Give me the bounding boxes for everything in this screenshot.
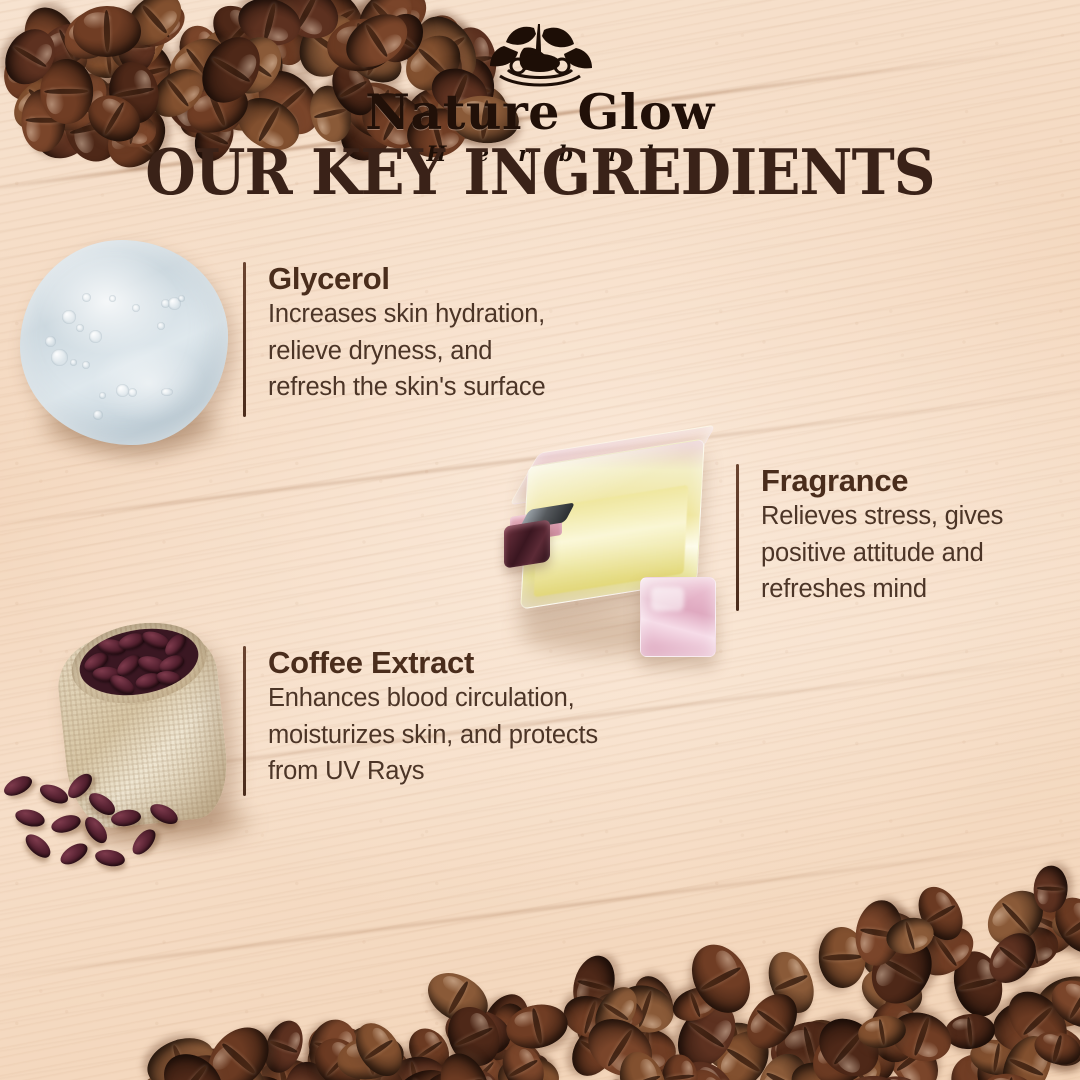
brand-name: Nature Glow <box>0 88 1080 137</box>
ingredient-block-fragrance: Fragrance Relieves stress, gives positiv… <box>736 464 1003 607</box>
glycerol-gel-blob-image <box>20 240 228 445</box>
ingredient-title: Coffee Extract <box>268 646 598 679</box>
ingredient-block-coffee-extract: Coffee Extract Enhances blood circulatio… <box>243 646 598 789</box>
ingredient-divider-rule <box>736 464 739 611</box>
ingredient-description: Increases skin hydration, relieve drynes… <box>268 296 545 405</box>
ingredient-title: Fragrance <box>761 464 1003 497</box>
ingredient-block-glycerol: Glycerol Increases skin hydration, relie… <box>243 262 545 405</box>
page-title: OUR KEY INGREDIENTS <box>43 141 1037 204</box>
ingredient-description: Enhances blood circulation, moisturizes … <box>268 680 598 789</box>
ingredient-title: Glycerol <box>268 262 545 295</box>
coffee-bean-sack-image <box>45 610 255 860</box>
ingredient-divider-rule <box>243 646 246 796</box>
coffee-beans-scatter-bottom-icon <box>150 840 1080 1080</box>
perfume-bottle-image <box>500 445 730 670</box>
ingredient-description: Relieves stress, gives positive attitude… <box>761 498 1003 607</box>
perfume-cap <box>640 577 716 657</box>
leaf-sprig-emblem-icon <box>474 18 606 92</box>
coffee-bean-icon <box>1068 1070 1080 1080</box>
ingredient-divider-rule <box>243 262 246 417</box>
perfume-sprayer <box>504 519 550 568</box>
ingredients-poster: Nature Glow H e r b a l OUR KEY INGREDIE… <box>0 0 1080 1080</box>
